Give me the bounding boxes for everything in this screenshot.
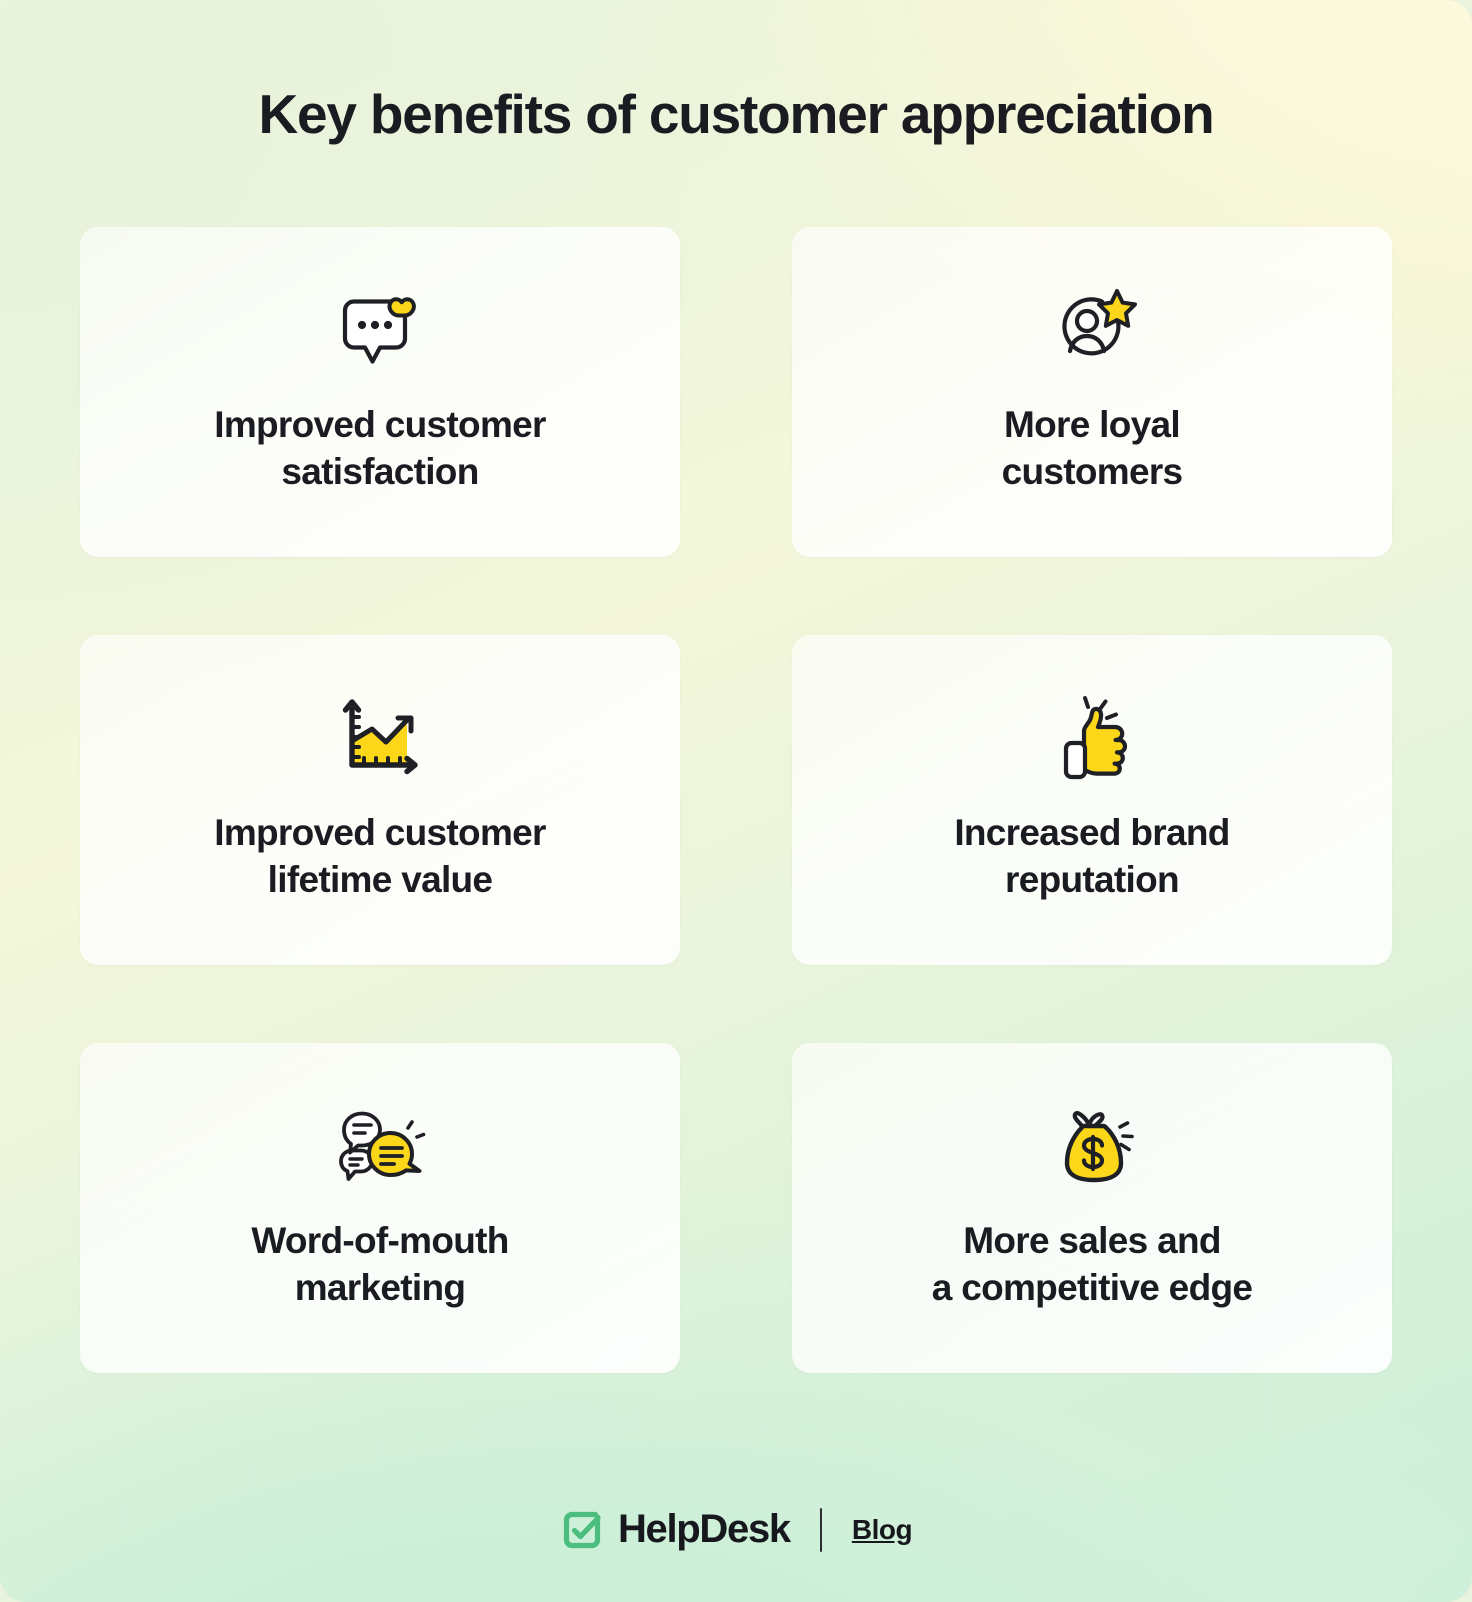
speech-bubbles-group-icon xyxy=(325,1091,435,1195)
infographic-canvas: Key benefits of customer appreciation Im… xyxy=(0,0,1472,1602)
brand-lockup[interactable]: HelpDesk xyxy=(560,1507,790,1552)
benefits-grid: Improved customer satisfaction More loya… xyxy=(80,227,1392,1373)
footer: HelpDesk Blog xyxy=(0,1457,1472,1602)
benefit-card-increased-brand-reputation[interactable]: Increased brand reputation xyxy=(792,635,1392,965)
benefit-card-label: More loyal customers xyxy=(1002,401,1183,496)
page-title: Key benefits of customer appreciation xyxy=(259,82,1214,146)
benefit-card-improved-customer-satisfaction[interactable]: Improved customer satisfaction xyxy=(80,227,680,557)
benefit-card-word-of-mouth-marketing[interactable]: Word-of-mouth marketing xyxy=(80,1043,680,1373)
benefit-card-more-sales-competitive-edge[interactable]: More sales and a competitive edge xyxy=(792,1043,1392,1373)
speech-bubble-heart-icon xyxy=(325,275,435,379)
benefit-card-label: More sales and a competitive edge xyxy=(932,1217,1253,1312)
benefit-card-improved-customer-lifetime-value[interactable]: Improved customer lifetime value xyxy=(80,635,680,965)
footer-blog-link[interactable]: Blog xyxy=(852,1514,912,1546)
page-title-container: Key benefits of customer appreciation xyxy=(0,0,1472,227)
benefit-card-label: Word-of-mouth marketing xyxy=(251,1217,508,1312)
growth-area-chart-icon xyxy=(325,683,435,787)
helpdesk-checkmark-logo-icon xyxy=(560,1508,604,1552)
thumbs-up-icon xyxy=(1037,683,1147,787)
benefit-card-label: Improved customer satisfaction xyxy=(214,401,545,496)
brand-name: HelpDesk xyxy=(618,1507,790,1552)
benefit-card-label: Increased brand reputation xyxy=(954,809,1229,904)
benefit-card-label: Improved customer lifetime value xyxy=(214,809,545,904)
money-bag-dollar-icon xyxy=(1037,1091,1147,1195)
benefit-card-more-loyal-customers[interactable]: More loyal customers xyxy=(792,227,1392,557)
person-star-icon xyxy=(1037,275,1147,379)
footer-divider xyxy=(820,1508,822,1552)
